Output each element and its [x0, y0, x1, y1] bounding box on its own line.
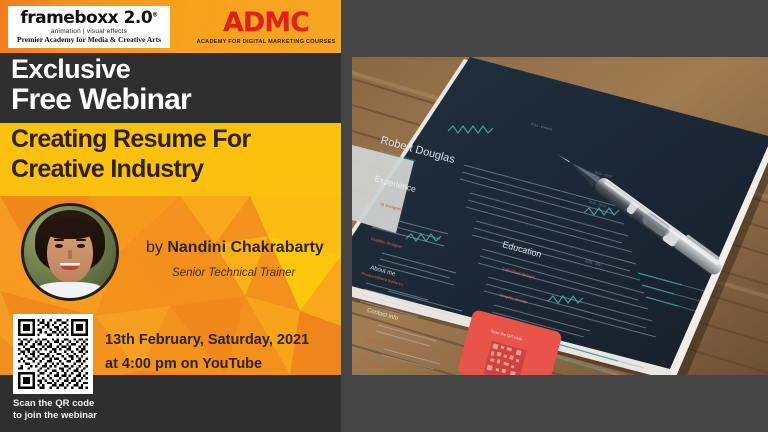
- admc-subtitle: ACADEMY FOR DIGITAL MARKETING COURSES: [197, 39, 336, 45]
- speaker-role: Senior Technical Trainer: [172, 268, 295, 280]
- avatar-fringe: [45, 219, 95, 239]
- avatar-nose: [68, 250, 72, 259]
- resume-photo-illustration: Robert Douglas Art designer & educator E…: [352, 57, 768, 375]
- kicker-line-1: Exclusive: [11, 56, 130, 83]
- title-line-1: Creating Resume For: [11, 127, 251, 152]
- qr-caption-line-1: Scan the QR code: [13, 398, 94, 410]
- left-poster-panel: frameboxx 2.0® animation | visual effect…: [0, 0, 341, 432]
- avatar-eye-right: [77, 244, 85, 248]
- speaker-by-label: by: [146, 239, 167, 256]
- brand-header-strip: frameboxx 2.0® animation | visual effect…: [0, 0, 341, 53]
- kicker-line-2: Free Webinar: [11, 85, 191, 115]
- frameboxx-subtitle: Premier Academy for Media & Creative Art…: [17, 36, 161, 44]
- poster-canvas: frameboxx 2.0® animation | visual effect…: [0, 0, 768, 432]
- resume-photo: Robert Douglas Art designer & educator E…: [352, 57, 768, 375]
- speaker-name: Nandini Chakrabarty: [167, 239, 323, 256]
- frameboxx-logo-card: frameboxx 2.0® animation | visual effect…: [8, 6, 170, 48]
- frameboxx-wordmark-text: frameboxx 2.0: [20, 8, 152, 28]
- speaker-avatar: [21, 203, 119, 301]
- speaker-byline: by Nandini Chakrabarty: [146, 240, 324, 256]
- qr-code-matrix: [18, 319, 88, 389]
- qr-code[interactable]: [13, 314, 93, 394]
- registered-mark-icon: ®: [152, 11, 158, 18]
- qr-caption-line-2: to join the webinar: [13, 410, 97, 422]
- frameboxx-tagline: animation | visual effects: [51, 28, 127, 35]
- schedule-date: 13th February, Saturday, 2021: [105, 333, 309, 348]
- avatar-eye-left: [55, 244, 63, 248]
- frameboxx-wordmark: frameboxx 2.0®: [20, 10, 157, 27]
- schedule-time: at 4:00 pm on YouTube: [105, 357, 262, 372]
- admc-logo-block: ADMC ACADEMY FOR DIGITAL MARKETING COURS…: [196, 4, 336, 50]
- title-line-2: Creative Industry: [11, 157, 203, 182]
- admc-wordmark: ADMC: [223, 9, 309, 36]
